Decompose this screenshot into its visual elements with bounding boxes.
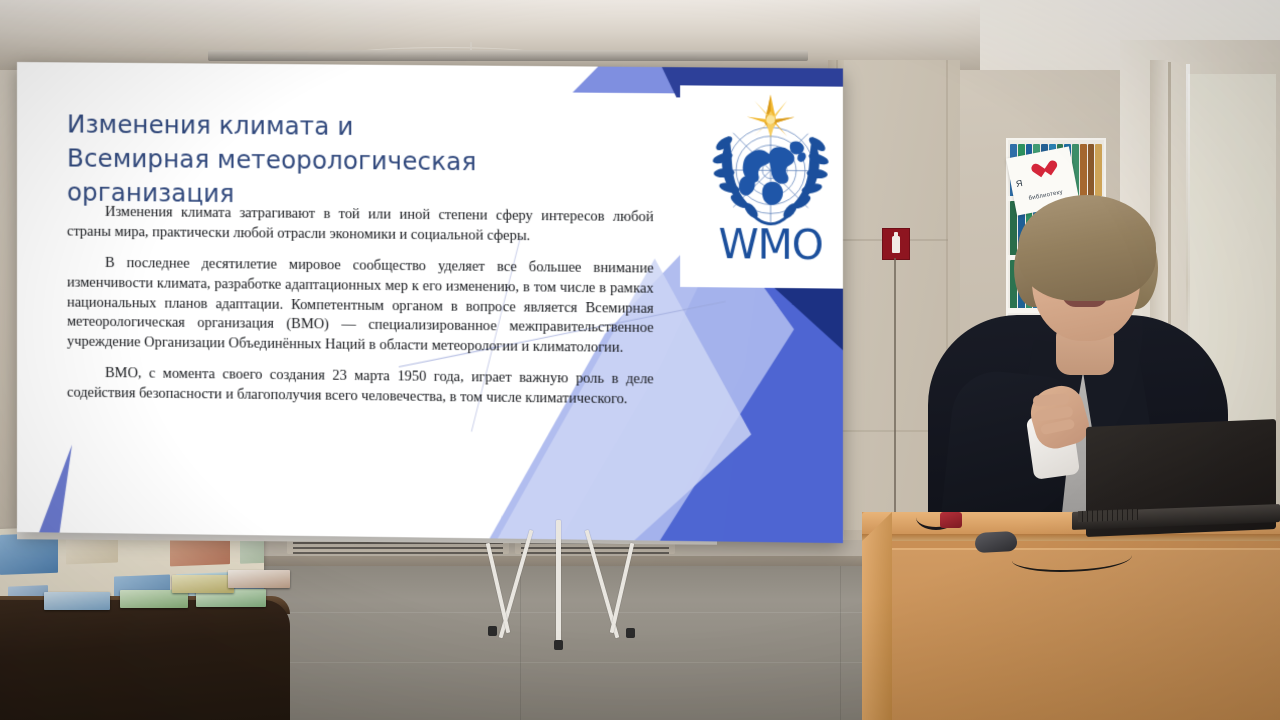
podium-lip: [862, 534, 1280, 541]
slide-paragraph-2: В последнее десятилетие мировое сообщест…: [67, 253, 654, 359]
wmo-emblem-icon: [694, 89, 843, 232]
podium-left-edge: [862, 512, 892, 720]
slide-title-line-1: Изменения климата и: [67, 107, 591, 145]
red-object: [940, 512, 962, 528]
screen-tripod-stand: [480, 520, 640, 648]
video-frame: Я библиотеку: [0, 0, 1280, 720]
fire-extinguisher-sign: [882, 228, 910, 260]
book: [44, 592, 110, 610]
podium-front-panel: [890, 548, 1280, 720]
presentation-slide[interactable]: Изменения климата и Всемирная метеоролог…: [17, 62, 843, 543]
wmo-wordmark: WMO: [718, 225, 822, 266]
decor-corner-triangle: [17, 444, 72, 543]
slide-paragraph-3: ВМО, с момента своего создания 23 марта …: [67, 364, 654, 411]
laptop-keyboard[interactable]: [1078, 509, 1138, 522]
wmo-logo: WMO: [680, 85, 843, 288]
book: [172, 575, 234, 593]
fire-extinguisher-icon: [892, 236, 900, 253]
sign-pole: [894, 258, 896, 533]
slide-body: Изменения климата затрагивают в той или …: [67, 202, 654, 421]
slide-paragraph-1: Изменения климата затрагивают в той или …: [67, 202, 654, 248]
book: [228, 570, 290, 588]
display-table: [0, 600, 290, 720]
projection-screen-case: [208, 50, 808, 61]
presenter-hair: [1018, 195, 1156, 301]
slide-title: Изменения климата и Всемирная метеоролог…: [67, 107, 591, 213]
